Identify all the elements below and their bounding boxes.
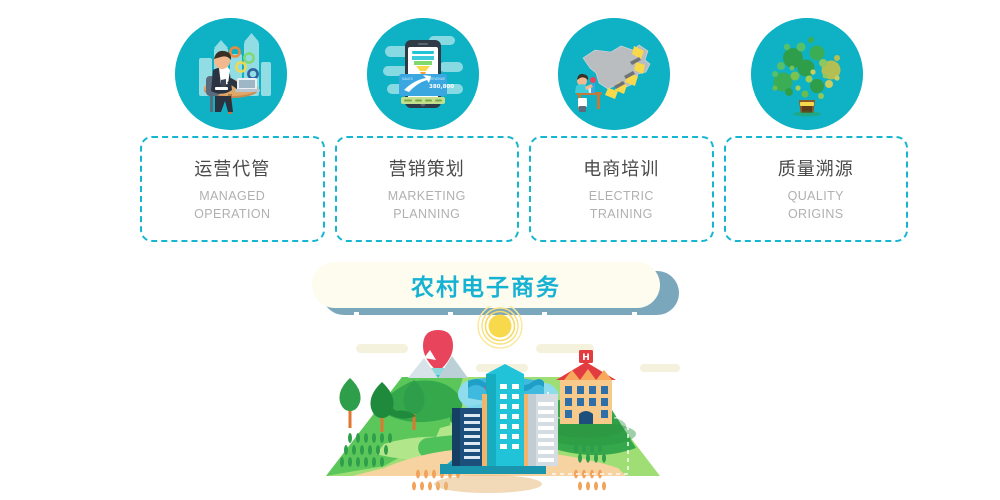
rural-ecommerce-landscape-illustration: H xyxy=(288,306,692,500)
card-subtitle-line2: OPERATION xyxy=(194,207,270,221)
svg-text:REVENUE: REVENUE xyxy=(430,77,445,81)
card-subtitle: QUALITY ORIGINS xyxy=(788,188,844,224)
card-subtitle: MARKETING PLANNING xyxy=(388,188,466,224)
hospital-sign-letter: H xyxy=(582,353,590,363)
smartphone-marketing-funnel-icon[interactable]: SALES REVENUE 380,800 xyxy=(367,18,479,130)
businessman-at-desk-icon[interactable] xyxy=(175,18,287,130)
card-subtitle-line2: PLANNING xyxy=(393,207,460,221)
card-subtitle-line1: MANAGED xyxy=(199,189,265,203)
card-title: 运营代管 xyxy=(194,155,270,181)
infographic-canvas: SALES REVENUE 380,800 xyxy=(0,0,1000,500)
sun-icon xyxy=(478,306,522,348)
china-map-training-icon[interactable] xyxy=(558,18,670,130)
card-title: 电商培训 xyxy=(583,155,659,181)
svg-text:380,800: 380,800 xyxy=(429,84,454,90)
card-title: 质量溯源 xyxy=(778,155,854,181)
card-subtitle-line2: TRAINING xyxy=(590,207,653,221)
banner-title: 农村电子商务 xyxy=(411,268,561,302)
cloud-shape xyxy=(356,344,680,372)
service-icon-row: SALES REVENUE 380,800 xyxy=(140,18,908,134)
service-card-row: 运营代管 MANAGED OPERATION 营销策划 MARKETING PL… xyxy=(140,136,908,242)
service-card-electric-training[interactable]: 电商培训 ELECTRIC TRAINING xyxy=(529,136,714,242)
service-card-marketing-planning[interactable]: 营销策划 MARKETING PLANNING xyxy=(335,136,520,242)
card-title: 营销策划 xyxy=(389,155,465,181)
banner-face: 农村电子商务 xyxy=(312,262,660,308)
card-subtitle-line2: ORIGINS xyxy=(788,207,844,221)
service-card-quality-origins[interactable]: 质量溯源 QUALITY ORIGINS xyxy=(724,136,909,242)
bubble-tree-traceability-icon[interactable] xyxy=(751,18,863,130)
card-subtitle-line1: ELECTRIC xyxy=(589,189,654,203)
card-subtitle-line1: MARKETING xyxy=(388,189,466,203)
service-card-managed-operation[interactable]: 运营代管 MANAGED OPERATION xyxy=(140,136,325,242)
card-subtitle: MANAGED OPERATION xyxy=(194,188,270,224)
card-subtitle: ELECTRIC TRAINING xyxy=(589,188,654,224)
svg-text:SALES: SALES xyxy=(402,77,413,81)
card-subtitle-line1: QUALITY xyxy=(788,189,844,203)
